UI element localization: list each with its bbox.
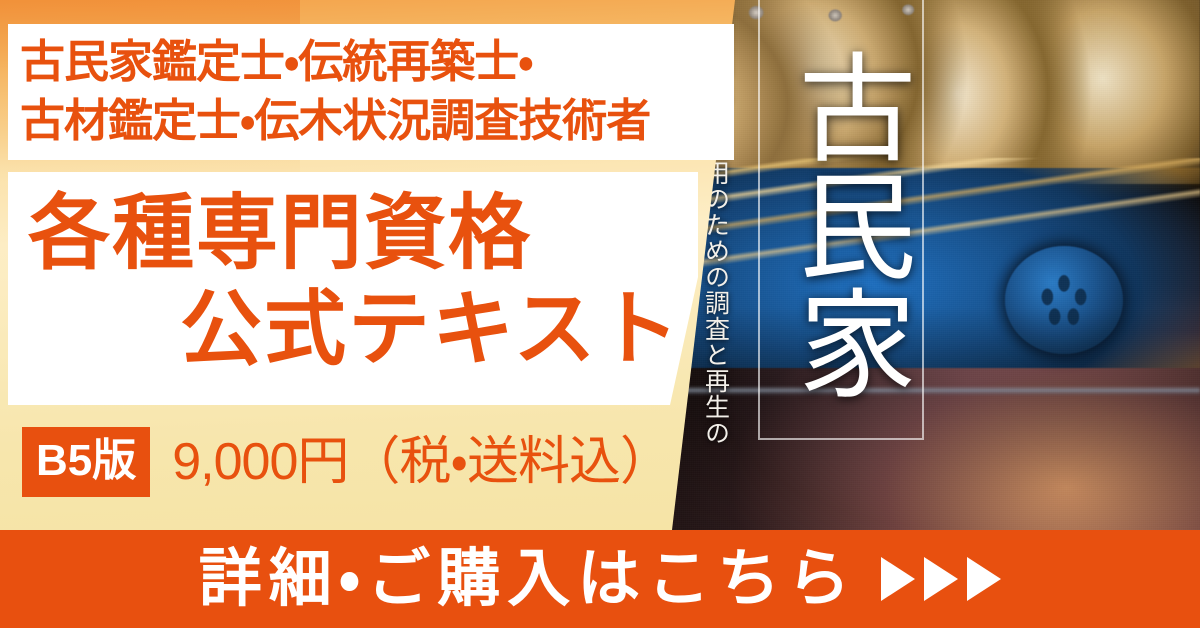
headline-panel: 各種専門資格 公式テキスト: [8, 172, 698, 405]
chevron-right-icon-1: [881, 557, 915, 601]
price-amount: 9,000円（税・送料込）: [172, 436, 671, 488]
certifications-panel: 古民家鑑定士・伝統再築士・ 古材鑑定士・伝木状況調査技術者: [8, 24, 734, 160]
cover-title-text: 古民家: [767, 14, 917, 434]
promo-banner: 伝統構法 古民家活用のための調査と再生の 古民家 古民家鑑定士・伝統再築士・ 古…: [0, 0, 1200, 628]
cta-bar[interactable]: 詳細・ご購入はこちら: [0, 530, 1200, 628]
chevron-right-icon-2: [924, 557, 958, 601]
book-size-badge: B5版: [22, 427, 150, 497]
headline-line-2: 公式テキスト: [180, 282, 682, 378]
certifications-line-2: 古材鑑定士・伝木状況調査技術者: [20, 91, 734, 150]
cta-arrow-group: [881, 557, 1001, 601]
headline-line-1: 各種専門資格: [28, 186, 532, 282]
price-row: B5版 9,000円（税・送料込）: [22, 428, 671, 496]
cta-label: 詳細・ご購入はこちら: [199, 548, 857, 611]
certifications-line-1: 古民家鑑定士・伝統再築士・: [20, 32, 734, 91]
chevron-right-icon-3: [967, 557, 1001, 601]
